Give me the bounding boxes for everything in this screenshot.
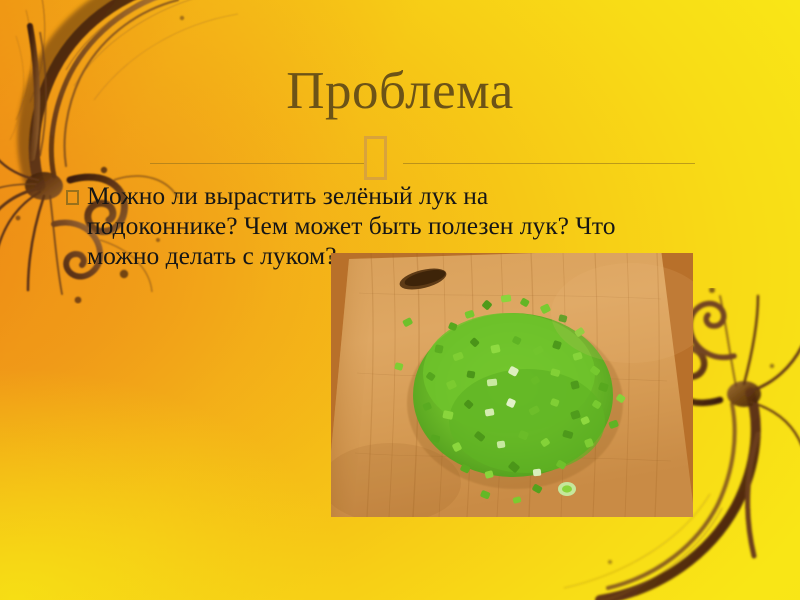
missing-glyph-box-icon xyxy=(364,136,387,180)
body-line-2: подоконнике? Чем может быть полезен лук?… xyxy=(87,211,734,241)
presentation-slide: Проблема Можно ли вырастить зелёный лук … xyxy=(0,0,800,600)
content-image xyxy=(331,253,693,517)
slide-title: Проблема xyxy=(0,64,800,120)
missing-glyph-bullet-icon xyxy=(66,190,79,205)
body-line-1: Можно ли вырастить зелёный лук на xyxy=(87,181,734,211)
title-divider-left xyxy=(150,163,365,164)
title-divider-right xyxy=(403,163,695,164)
